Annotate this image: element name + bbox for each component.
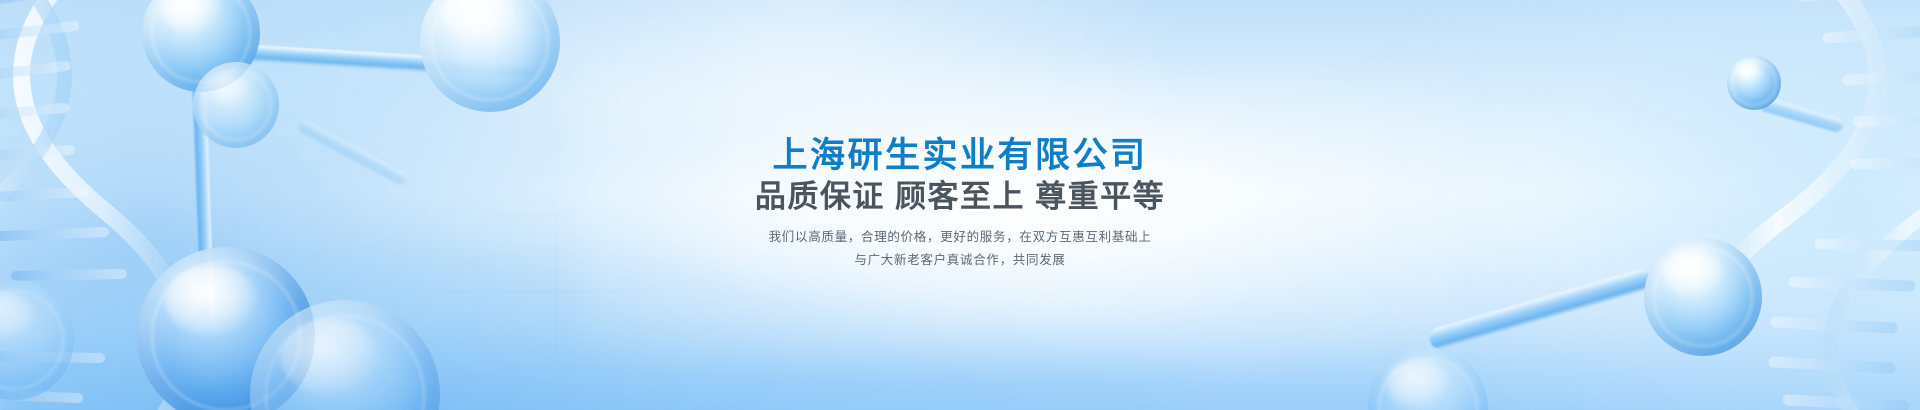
description-line-2: 与广大新老客户真诚合作，共同发展 <box>0 249 1920 272</box>
description-line-1: 我们以高质量，合理的价格，更好的服务，在双方互惠互利基础上 <box>0 226 1920 249</box>
banner-copy-block: 上海研生实业有限公司 品质保证 顾客至上 尊重平等 我们以高质量，合理的价格，更… <box>0 136 1920 272</box>
company-hero-banner: 上海研生实业有限公司 品质保证 顾客至上 尊重平等 我们以高质量，合理的价格，更… <box>0 0 1920 410</box>
company-slogan: 品质保证 顾客至上 尊重平等 <box>0 178 1920 217</box>
company-description: 我们以高质量，合理的价格，更好的服务，在双方互惠互利基础上 与广大新老客户真诚合… <box>0 226 1920 272</box>
company-name-title: 上海研生实业有限公司 <box>0 136 1920 175</box>
background-top-sheen <box>422 0 1190 131</box>
